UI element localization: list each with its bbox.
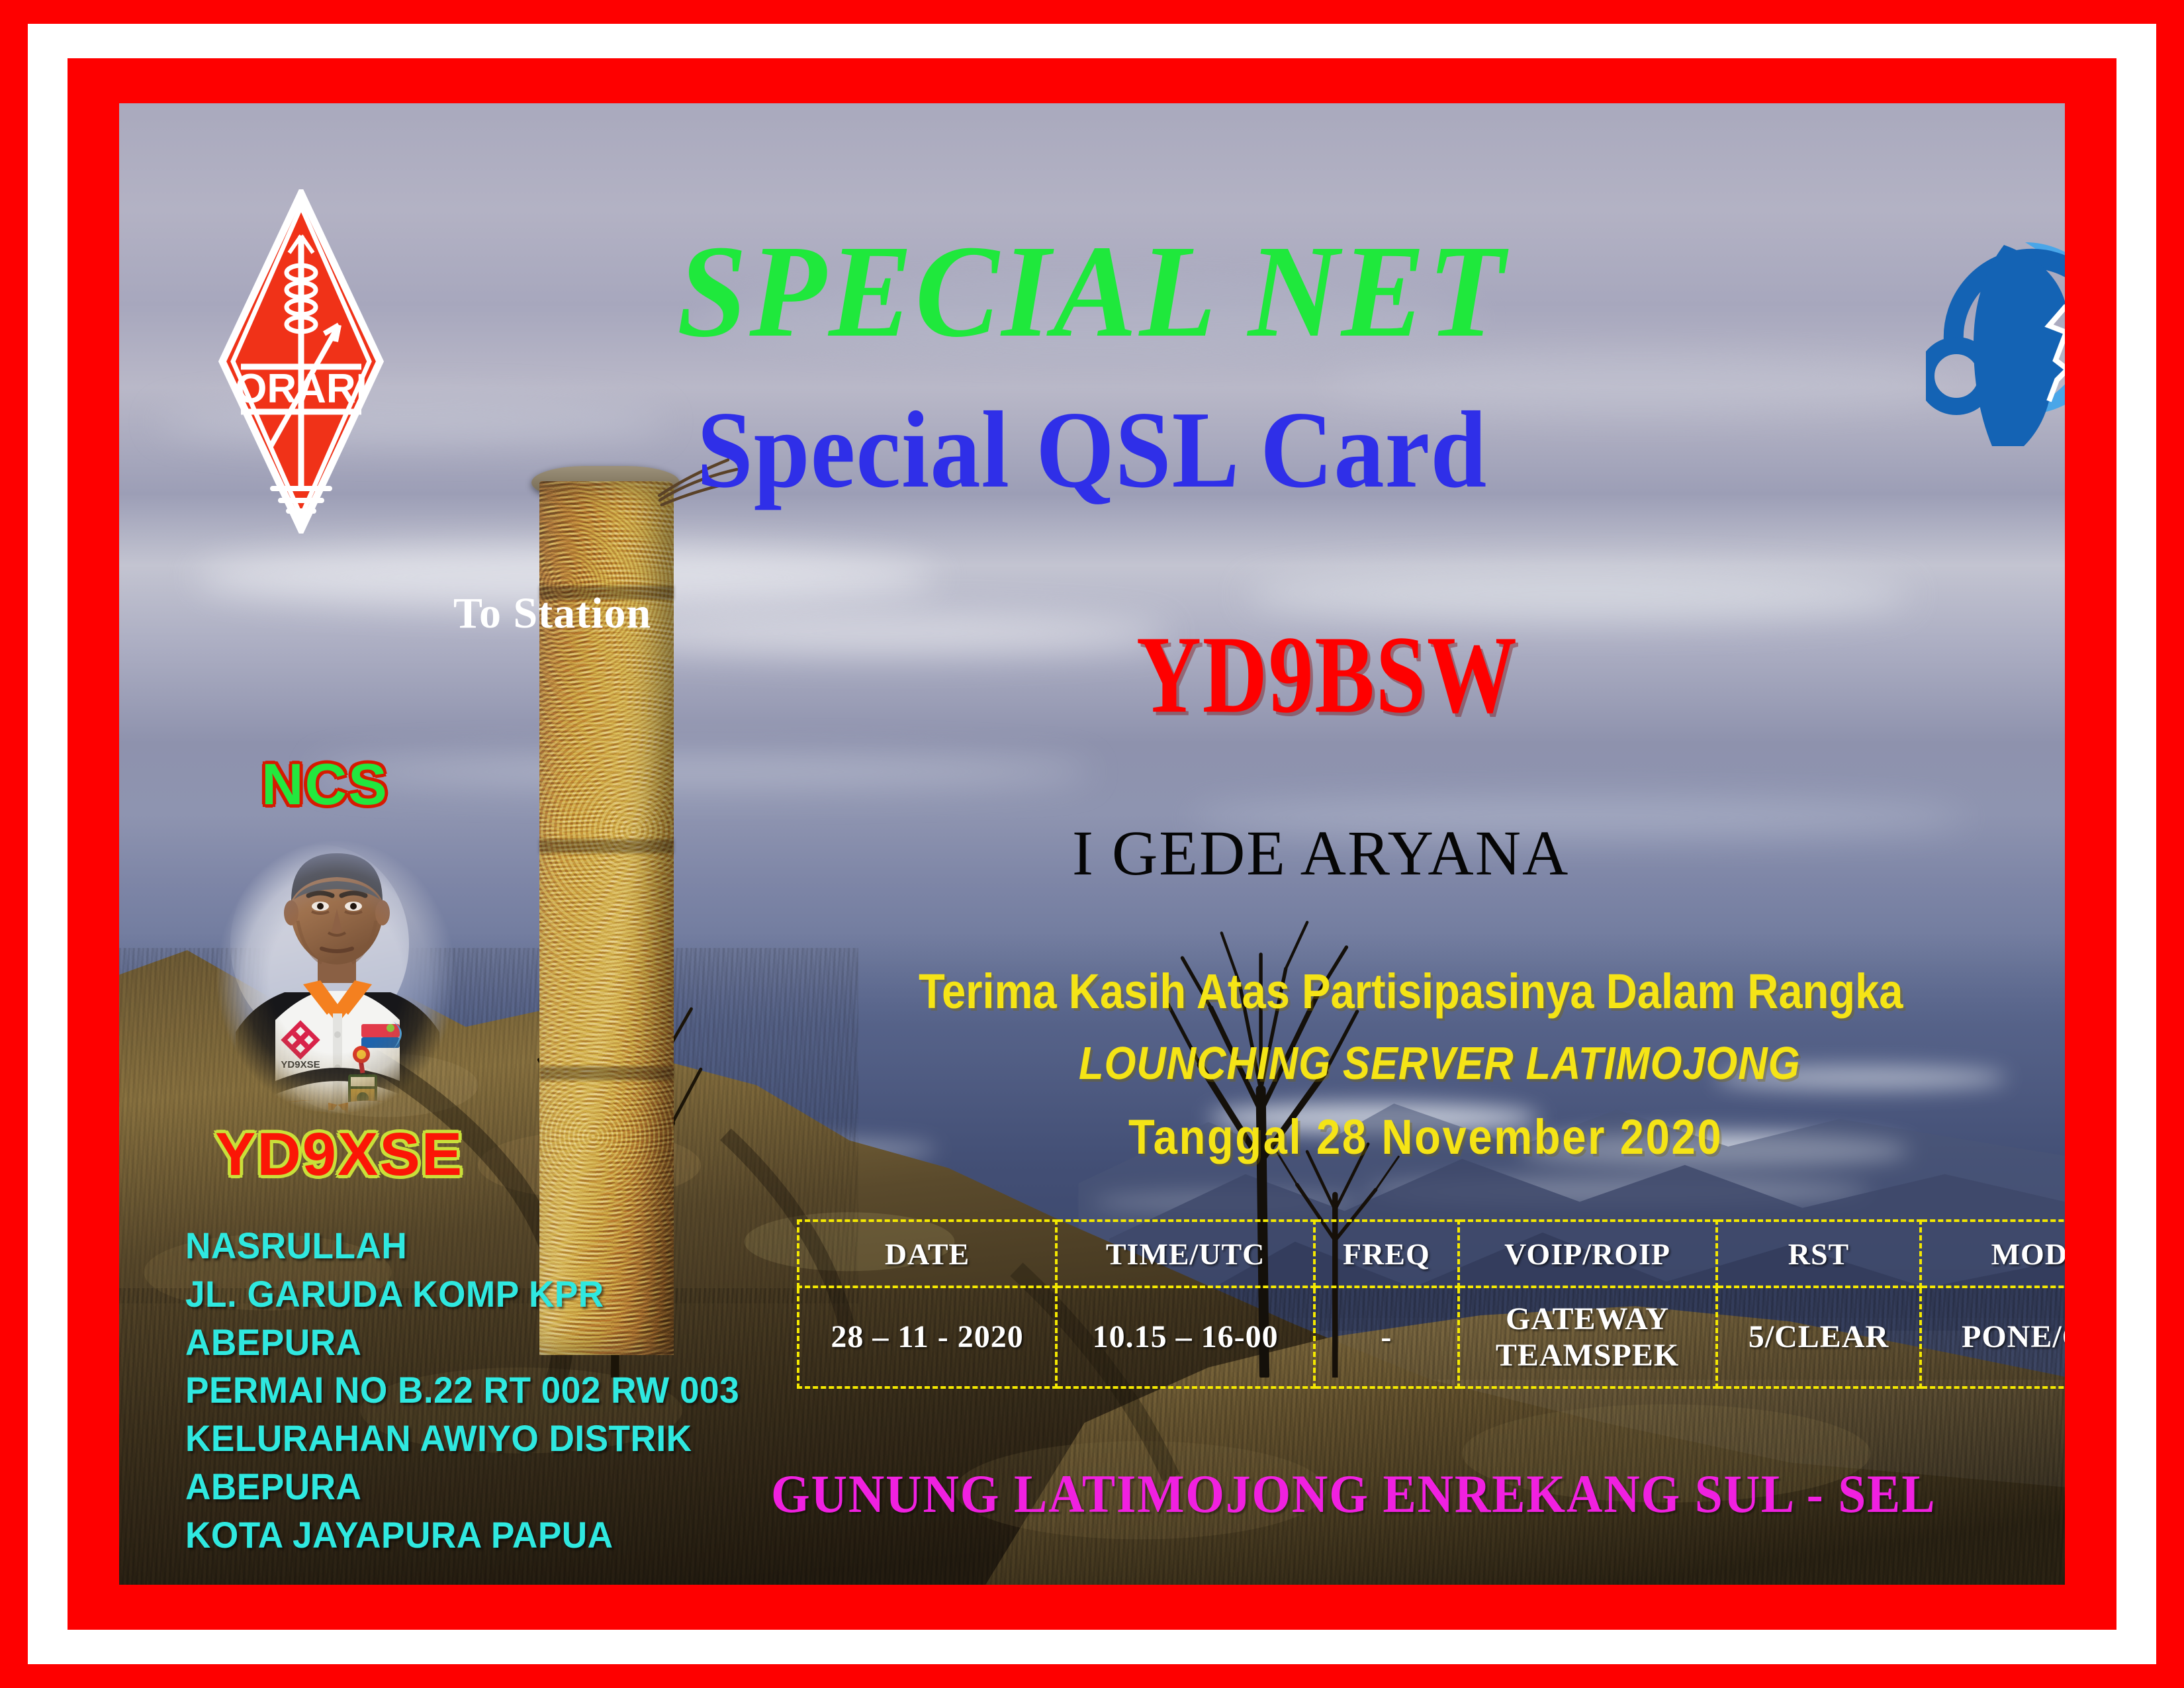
- table-header-row: DATE TIME/UTC FREQ VOIP/ROIP RST MODE: [798, 1221, 2065, 1287]
- column-header-freq: FREQ: [1314, 1221, 1458, 1287]
- cell-voip: GATEWAY TEAMSPEK: [1459, 1287, 1717, 1387]
- location-line: GUNUNG LATIMOJONG ENREKANG SUL - SEL: [771, 1467, 1936, 1521]
- message-line-1: Terima Kasih Atas Partisipasinya Dalam R…: [919, 967, 1903, 1016]
- column-header-mode: MODE: [1921, 1221, 2065, 1287]
- cell-voip-line-1: GATEWAY: [1506, 1301, 1669, 1336]
- table-row: 28 – 11 - 2020 10.15 – 16-00 - GATEWAY T…: [798, 1287, 2065, 1387]
- address-line: KOTA JAYAPURA PAPUA: [185, 1511, 739, 1560]
- qso-log-table: DATE TIME/UTC FREQ VOIP/ROIP RST MODE 28…: [797, 1219, 2065, 1389]
- address-line: JL. GARUDA KOMP KPR: [185, 1270, 739, 1319]
- qsl-card: ORARI: [0, 0, 2184, 1688]
- cell-voip-line-2: TEAMSPEK: [1496, 1338, 1679, 1373]
- card-inner-red-frame: ORARI: [68, 58, 2116, 1630]
- cell-freq: -: [1314, 1287, 1458, 1387]
- operator-name: I GEDE ARYANA: [1072, 821, 1569, 885]
- message-line-3: Tanggal 28 November 2020: [1128, 1113, 1723, 1162]
- card-white-frame: ORARI: [28, 24, 2156, 1664]
- column-header-date: DATE: [798, 1221, 1056, 1287]
- column-header-time: TIME/UTC: [1056, 1221, 1314, 1287]
- column-header-rst: RST: [1717, 1221, 1921, 1287]
- ncs-operator-photo: YD9XSE: [197, 821, 475, 1133]
- avatar: YD9XSE: [197, 821, 475, 1133]
- address-line: KELURAHAN AWIYO DISTRIK: [185, 1415, 739, 1463]
- card-photo-area: ORARI: [119, 103, 2065, 1585]
- ncs-label: NCS: [261, 755, 388, 814]
- station-callsign: YD9BSW: [1136, 620, 1518, 730]
- message-line-2: LOUNCHING SERVER LATIMOJONG: [1079, 1040, 1800, 1086]
- card-subtitle: Special QSL Card: [197, 395, 1987, 504]
- address-line: ABEPURA: [185, 1463, 739, 1511]
- to-station-label: To Station: [453, 592, 651, 635]
- mailing-address-block: NASRULLAH JL. GARUDA KOMP KPR ABEPURA PE…: [185, 1222, 768, 1560]
- card-main-title: SPECIAL NET: [168, 226, 2017, 358]
- svg-text:YD9XSE: YD9XSE: [281, 1059, 320, 1070]
- address-line: ABEPURA: [185, 1319, 739, 1367]
- column-header-voip: VOIP/ROIP: [1459, 1221, 1717, 1287]
- ncs-callsign: YD9XSE: [215, 1124, 463, 1185]
- cell-time: 10.15 – 16-00: [1056, 1287, 1314, 1387]
- cell-mode: PONE/CW: [1921, 1287, 2065, 1387]
- address-line: PERMAI NO B.22 RT 002 RW 003: [185, 1366, 739, 1415]
- cell-rst: 5/CLEAR: [1717, 1287, 1921, 1387]
- cell-date: 28 – 11 - 2020: [798, 1287, 1056, 1387]
- address-line: NASRULLAH: [185, 1222, 739, 1270]
